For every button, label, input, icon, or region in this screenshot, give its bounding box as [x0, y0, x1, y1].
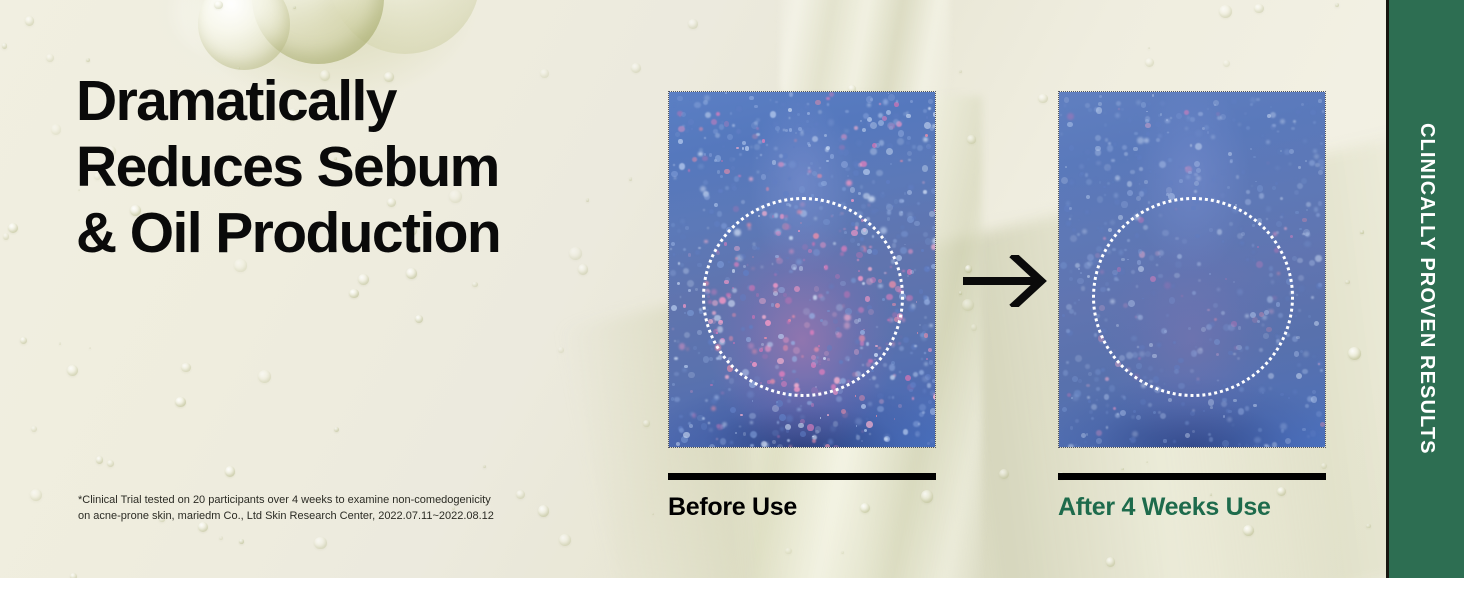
dotted-circle-marker-before	[702, 197, 904, 397]
clinical-trial-disclaimer: *Clinical Trial tested on 20 participant…	[78, 492, 618, 524]
before-column: Before Use	[668, 91, 936, 522]
right-arrow-icon	[963, 255, 1049, 307]
before-caption-rule	[668, 473, 936, 480]
page-title: Dramatically Reduces Sebum & Oil Product…	[76, 68, 500, 266]
clinically-proven-sidebar: CLINICALLY PROVEN RESULTS	[1389, 0, 1464, 578]
before-image-frame	[668, 91, 936, 448]
after-image-frame	[1058, 91, 1326, 448]
before-caption: Before Use	[668, 492, 936, 522]
after-caption-rule	[1058, 473, 1326, 480]
sidebar-label: CLINICALLY PROVEN RESULTS	[1415, 123, 1438, 455]
promotional-banner: Dramatically Reduces Sebum & Oil Product…	[0, 0, 1464, 600]
oil-droplet-small	[198, 0, 290, 70]
after-caption: After 4 Weeks Use	[1058, 492, 1326, 522]
dotted-circle-marker-after	[1092, 197, 1294, 397]
after-column: After 4 Weeks Use	[1058, 91, 1326, 522]
